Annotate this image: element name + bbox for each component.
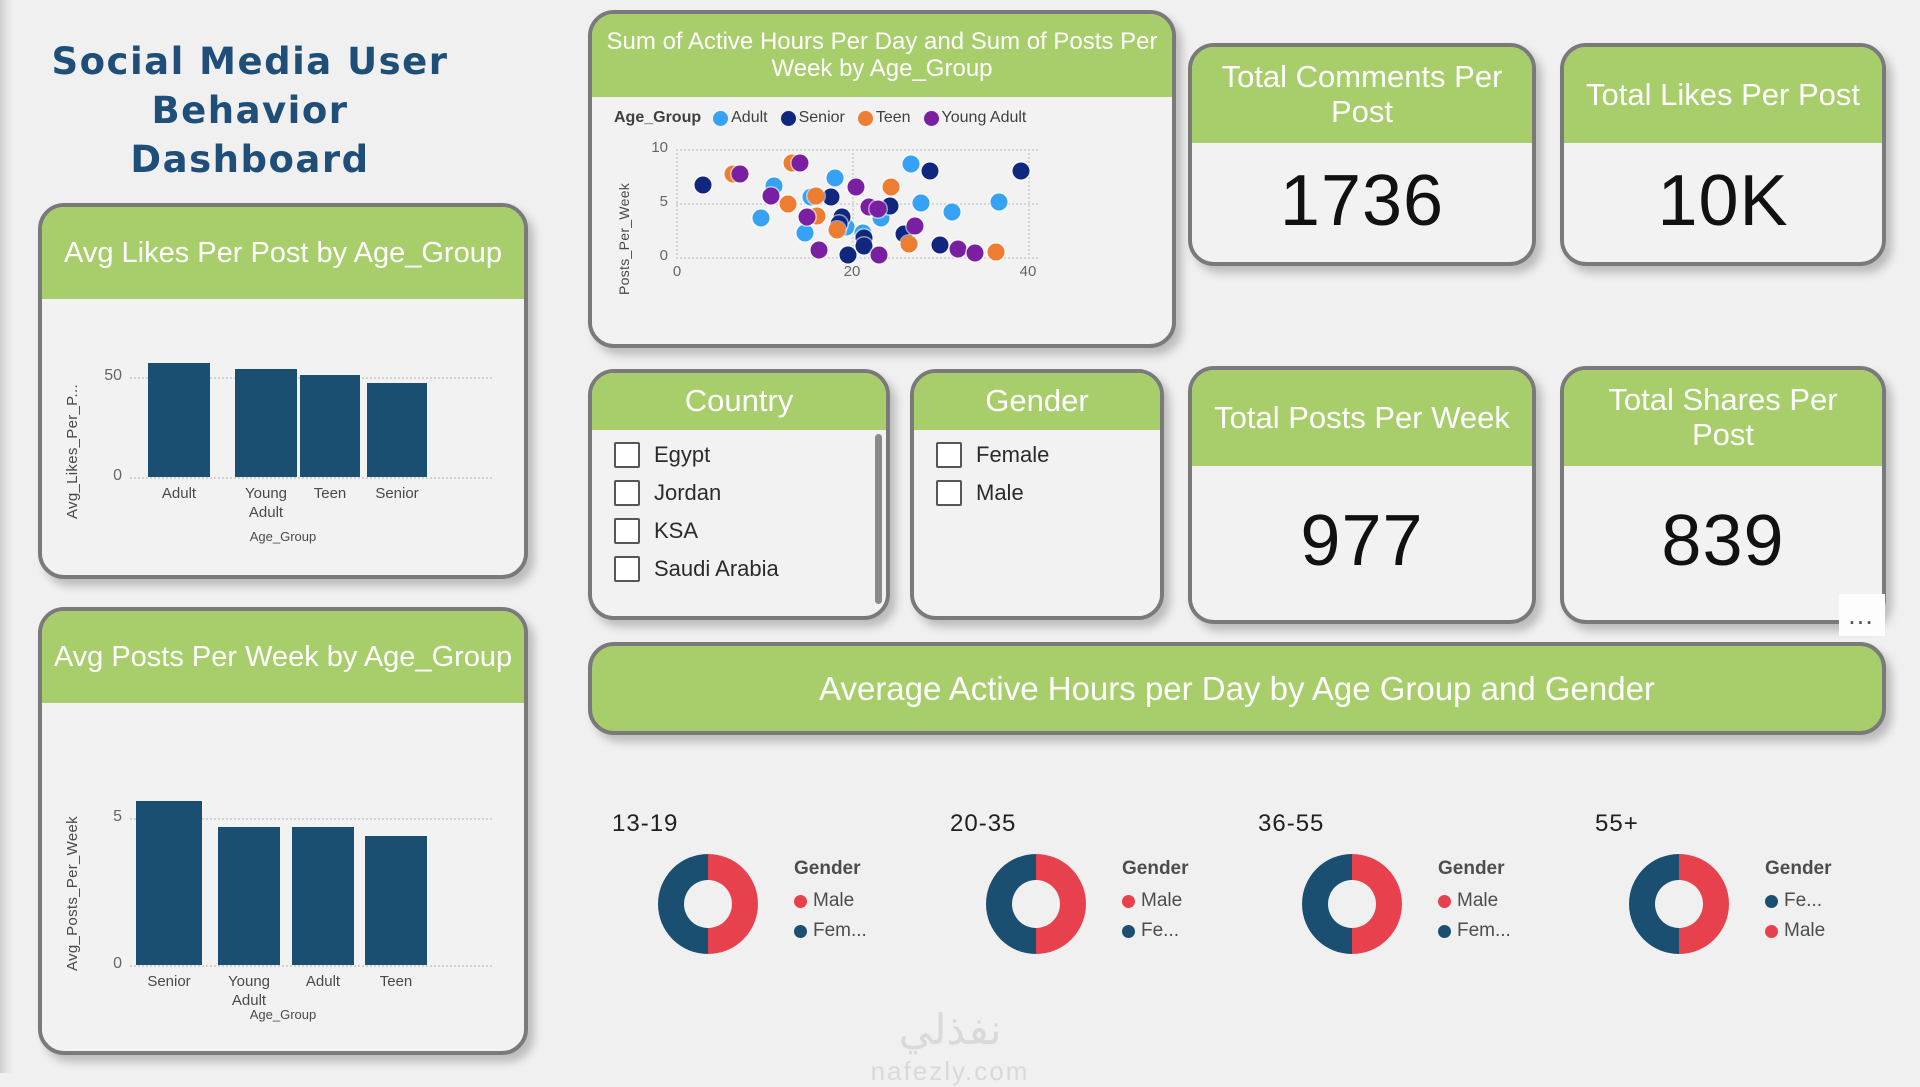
scatter-point-adult[interactable] <box>991 193 1008 210</box>
avg-posts-ytick-5: 5 <box>84 808 122 826</box>
legend-item-senior[interactable]: Senior <box>781 109 845 127</box>
scatter-gridline-5 <box>676 203 1038 205</box>
donut-chart-20-35[interactable] <box>986 854 1086 954</box>
avg-posts-y-axis-title: Avg_Posts_Per_Week <box>64 751 81 971</box>
scatter-point-senior[interactable] <box>695 176 712 193</box>
bar-adult[interactable] <box>148 363 210 477</box>
scatter-point-teen[interactable] <box>807 187 824 204</box>
kpi-total-comments-title: Total Comments Per Post <box>1192 47 1532 143</box>
legend-text-male-13-19: Male <box>813 890 854 912</box>
legend-dot-male-55-plus <box>1765 925 1778 938</box>
donut-legend-item-male-20-35[interactable]: Male <box>1122 890 1189 912</box>
scatter-point-senior[interactable] <box>931 236 948 253</box>
scatter-point-senior[interactable] <box>840 246 857 263</box>
average-active-hours-banner: Average Active Hours per Day by Age Grou… <box>588 642 1886 735</box>
scatter-point-young-adult[interactable] <box>967 244 984 261</box>
slicer-item-jordan[interactable]: Jordan <box>614 480 886 506</box>
kpi-total-shares-title: Total Shares Per Post <box>1564 370 1882 466</box>
scatter-point-young-adult[interactable] <box>848 178 865 195</box>
avg-posts-ytick-0: 0 <box>84 955 122 973</box>
donut-legend-title-36-55: Gender <box>1438 858 1511 880</box>
donut-legend-item-female-20-35[interactable]: Fe... <box>1122 920 1189 942</box>
avg-posts-xlabel-teen: Teen <box>358 973 434 992</box>
kpi-total-posts-value: 977 <box>1192 500 1532 582</box>
scatter-gridline-x0 <box>676 149 678 259</box>
scatter-ytick-0: 0 <box>632 247 668 264</box>
scatter-legend[interactable]: Age_Group Adult Senior Teen Young Adult <box>614 109 1035 127</box>
checkbox-icon-jordan[interactable] <box>614 480 640 506</box>
legend-label-teen: Teen <box>876 109 911 127</box>
donut-chart-13-19[interactable] <box>658 854 758 954</box>
avg-posts-xlabel-senior: Senior <box>131 973 207 992</box>
legend-label-adult: Adult <box>731 109 767 127</box>
legend-dot-male-36-55 <box>1438 895 1451 908</box>
kpi-total-shares-value: 839 <box>1564 500 1882 582</box>
scatter-point-adult[interactable] <box>902 156 919 173</box>
donut-legend-title-55-plus: Gender <box>1765 858 1832 880</box>
scatter-card-title: Sum of Active Hours Per Day and Sum of P… <box>592 14 1172 97</box>
legend-dot-male-13-19 <box>794 895 807 908</box>
donut-wrap-20-35: Gender Male Fe... <box>986 854 1189 954</box>
avg-likes-x-axis-title: Age_Group <box>42 529 524 544</box>
slicer-item-saudi-arabia[interactable]: Saudi Arabia <box>614 556 886 582</box>
avg-posts-x-axis-title: Age_Group <box>42 1007 524 1022</box>
country-slicer-body[interactable]: Egypt Jordan KSA Saudi Arabia <box>592 430 886 616</box>
bar-teen-posts[interactable] <box>365 836 427 965</box>
scatter-point-young-adult[interactable] <box>763 187 780 204</box>
scatter-point-senior[interactable] <box>922 163 939 180</box>
scatter-point-teen[interactable] <box>883 178 900 195</box>
donut-chart-36-55[interactable] <box>1302 854 1402 954</box>
donut-legend-title-13-19: Gender <box>794 858 867 880</box>
donut-chart-55-plus[interactable] <box>1629 854 1729 954</box>
avg-likes-y-axis-title: Avg_Likes_Per_P... <box>64 329 81 519</box>
avg-likes-xlabel-senior: Senior <box>359 485 435 504</box>
xlabel-adult2: Adult <box>228 504 304 523</box>
scatter-point-teen[interactable] <box>780 196 797 213</box>
banner-text: Average Active Hours per Day by Age Grou… <box>819 670 1655 708</box>
donut-label-55-plus: 55+ <box>1595 810 1639 838</box>
slicer-label-male: Male <box>976 480 1024 506</box>
slicer-label-jordan: Jordan <box>654 480 721 506</box>
scatter-gridline-10 <box>676 149 1038 151</box>
legend-dot-female-36-55 <box>1438 925 1451 938</box>
legend-text-male-20-35: Male <box>1141 890 1182 912</box>
avg-posts-xlabel-adult: Adult <box>285 973 361 992</box>
checkbox-icon-female[interactable] <box>936 442 962 468</box>
scatter-gridline-x20 <box>852 149 854 259</box>
donut-label-13-19: 13-19 <box>612 810 678 838</box>
page-title-line-1: Social Media User <box>40 38 460 87</box>
slicer-item-female[interactable]: Female <box>936 442 1160 468</box>
bar-adult-posts[interactable] <box>292 827 354 965</box>
avg-likes-card-title: Avg Likes Per Post by Age_Group <box>42 207 524 299</box>
legend-label-young-adult: Young Adult <box>942 109 1027 127</box>
scatter-point-adult[interactable] <box>913 194 930 211</box>
scatter-point-young-adult[interactable] <box>792 155 809 172</box>
donut-legend-13-19: Gender Male Fem... <box>794 858 867 950</box>
country-slicer-list[interactable]: Egypt Jordan KSA Saudi Arabia <box>592 430 886 582</box>
kpi-total-posts-title: Total Posts Per Week <box>1192 370 1532 466</box>
checkbox-icon-egypt[interactable] <box>614 442 640 468</box>
donut-label-36-55: 36-55 <box>1258 810 1324 838</box>
scatter-card[interactable]: Sum of Active Hours Per Day and Sum of P… <box>588 10 1176 348</box>
avg-posts-card-title: Avg Posts Per Week by Age_Group <box>42 611 524 703</box>
scatter-gridline-0 <box>676 257 1038 259</box>
legend-item-young-adult[interactable]: Young Adult <box>924 109 1027 127</box>
bar-young-adult-posts[interactable] <box>218 827 280 965</box>
slicer-item-male[interactable]: Male <box>936 480 1160 506</box>
xlabel-young-2: Young <box>211 973 287 992</box>
legend-dot-female-13-19 <box>794 925 807 938</box>
scatter-xtick-20: 20 <box>837 263 867 280</box>
donut-group-36-55: 36-55 Gender Male Fem... <box>1258 810 1324 838</box>
scatter-point-adult[interactable] <box>826 169 843 186</box>
avg-likes-chart[interactable]: Avg_Likes_Per_P... 50 0 Adult Young Adul… <box>42 299 524 567</box>
kpi-total-posts-per-week[interactable]: Total Posts Per Week 977 <box>1188 366 1536 624</box>
scatter-point-young-adult[interactable] <box>870 201 887 218</box>
scatter-gridline-x40 <box>1028 149 1030 259</box>
scatter-point-young-adult[interactable] <box>907 218 924 235</box>
checkbox-icon-saudi-arabia[interactable] <box>614 556 640 582</box>
country-slicer[interactable]: Country Egypt Jordan KSA Saudi Arabia <box>588 369 890 620</box>
kpi-total-likes-title: Total Likes Per Post <box>1564 47 1882 143</box>
scatter-legend-title: Age_Group <box>614 109 701 127</box>
slicer-item-egypt[interactable]: Egypt <box>614 442 886 468</box>
kpi-total-shares-per-post[interactable]: Total Shares Per Post 839 <box>1560 366 1886 624</box>
legend-text-female-20-35: Fe... <box>1141 920 1179 942</box>
gender-slicer[interactable]: Gender Female Male <box>910 369 1164 620</box>
kpi-total-comments-body: 1736 <box>1192 143 1532 258</box>
avg-posts-chart[interactable]: Avg_Posts_Per_Week 5 0 Senior Young Adul… <box>42 703 524 1043</box>
scatter-point-senior[interactable] <box>823 188 840 205</box>
legend-dot-senior <box>781 111 796 126</box>
scatter-xtick-40: 40 <box>1013 263 1043 280</box>
avg-likes-ytick-0: 0 <box>84 467 122 485</box>
legend-text-male-36-55: Male <box>1457 890 1498 912</box>
page-title: Social Media User Behavior Dashboard <box>40 38 460 184</box>
donut-legend-20-35: Gender Male Fe... <box>1122 858 1189 950</box>
scatter-point-teen[interactable] <box>987 243 1004 260</box>
donut-group-55-plus: 55+ Gender Fe... Male <box>1595 810 1639 838</box>
donut-group-13-19: 13-19 Gender Male Fem... <box>612 810 678 838</box>
scatter-point-young-adult[interactable] <box>949 240 966 257</box>
donut-legend-55-plus: Gender Fe... Male <box>1765 858 1832 950</box>
gender-slicer-list[interactable]: Female Male <box>914 430 1160 506</box>
bar-senior[interactable] <box>367 383 427 477</box>
legend-dot-adult <box>713 111 728 126</box>
checkbox-icon-ksa[interactable] <box>614 518 640 544</box>
kpi-total-likes-value: 10K <box>1564 160 1882 242</box>
legend-item-teen[interactable]: Teen <box>858 109 911 127</box>
legend-text-female-36-55: Fem... <box>1457 920 1511 942</box>
legend-text-female-55-plus: Fe... <box>1784 890 1822 912</box>
scatter-plot-area[interactable] <box>676 149 1038 259</box>
legend-dot-female-55-plus <box>1765 895 1778 908</box>
kpi-total-shares-body: 839 <box>1564 466 1882 616</box>
scatter-point-adult[interactable] <box>796 224 813 241</box>
avg-posts-xlabel-young-adult: Young Adult <box>211 973 287 1011</box>
avg-likes-xlabel-teen: Teen <box>292 485 368 504</box>
donut-wrap-55-plus: Gender Fe... Male <box>1629 854 1832 954</box>
kpi-total-likes-body: 10K <box>1564 143 1882 258</box>
kpi-total-comments-value: 1736 <box>1192 160 1532 242</box>
slicer-label-saudi-arabia: Saudi Arabia <box>654 556 779 582</box>
avg-posts-gridline-0 <box>130 965 492 967</box>
dashboard-canvas: Social Media User Behavior Dashboard Avg… <box>0 0 1920 1073</box>
avg-posts-card[interactable]: Avg Posts Per Week by Age_Group Avg_Post… <box>38 607 528 1055</box>
slicer-label-female: Female <box>976 442 1049 468</box>
avg-likes-card[interactable]: Avg Likes Per Post by Age_Group Avg_Like… <box>38 203 528 579</box>
donut-legend-item-female-55-plus[interactable]: Fe... <box>1765 890 1832 912</box>
checkbox-icon-male[interactable] <box>936 480 962 506</box>
scatter-point-senior[interactable] <box>1013 163 1030 180</box>
avg-likes-gridline-0 <box>130 477 492 479</box>
scatter-y-axis-title: Posts_Per_Week <box>616 145 632 295</box>
slicer-label-ksa: KSA <box>654 518 698 544</box>
legend-dot-teen <box>858 111 873 126</box>
donut-legend-item-female-36-55[interactable]: Fem... <box>1438 920 1511 942</box>
legend-label-senior: Senior <box>799 109 845 127</box>
gender-slicer-title: Gender <box>914 373 1160 430</box>
country-slicer-title: Country <box>592 373 886 430</box>
legend-dot-male-20-35 <box>1122 895 1135 908</box>
country-slicer-scrollbar[interactable] <box>875 434 882 604</box>
scatter-point-young-adult[interactable] <box>798 209 815 226</box>
legend-item-adult[interactable]: Adult <box>713 109 767 127</box>
donut-wrap-36-55: Gender Male Fem... <box>1302 854 1511 954</box>
bar-senior-posts[interactable] <box>136 801 202 965</box>
legend-dot-young-adult <box>924 111 939 126</box>
scatter-point-young-adult[interactable] <box>871 246 888 263</box>
page-left-edge <box>0 0 14 1073</box>
legend-text-female-13-19: Fem... <box>813 920 867 942</box>
donut-legend-item-male-36-55[interactable]: Male <box>1438 890 1511 912</box>
donut-legend-title-20-35: Gender <box>1122 858 1189 880</box>
scatter-point-teen[interactable] <box>901 235 918 252</box>
legend-dot-female-20-35 <box>1122 925 1135 938</box>
kpi-total-comments-per-post[interactable]: Total Comments Per Post 1736 <box>1188 43 1536 266</box>
scatter-point-young-adult[interactable] <box>811 241 828 258</box>
slicer-label-egypt: Egypt <box>654 442 710 468</box>
watermark: نفذلي nafezly.com <box>810 1005 1090 1087</box>
watermark-arabic: نفذلي <box>810 1005 1090 1054</box>
scatter-point-young-adult[interactable] <box>732 166 749 183</box>
kpi-total-posts-body: 977 <box>1192 466 1532 616</box>
scatter-point-adult[interactable] <box>944 204 961 221</box>
kpi-total-likes-per-post[interactable]: Total Likes Per Post 10K <box>1560 43 1886 266</box>
donut-legend-36-55: Gender Male Fem... <box>1438 858 1511 950</box>
avg-likes-xlabel-adult: Adult <box>141 485 217 504</box>
donut-wrap-13-19: Gender Male Fem... <box>658 854 867 954</box>
scatter-point-teen[interactable] <box>828 222 845 239</box>
donut-legend-item-male-13-19[interactable]: Male <box>794 890 867 912</box>
scatter-ytick-10: 10 <box>632 139 668 156</box>
donut-legend-item-male-55-plus[interactable]: Male <box>1765 920 1832 942</box>
page-title-line-2: Behavior Dashboard <box>40 87 460 185</box>
gender-slicer-body[interactable]: Female Male <box>914 430 1160 616</box>
more-options-button[interactable]: … <box>1839 594 1885 636</box>
scatter-point-adult[interactable] <box>752 210 769 227</box>
scatter-chart[interactable]: Age_Group Adult Senior Teen Young Adult <box>592 97 1172 336</box>
bar-teen[interactable] <box>300 375 360 477</box>
avg-likes-ytick-50: 50 <box>84 367 122 385</box>
bar-young-adult[interactable] <box>235 369 297 477</box>
scatter-xtick-0: 0 <box>662 263 692 280</box>
donut-group-20-35: 20-35 Gender Male Fe... <box>950 810 1016 838</box>
legend-text-male-55-plus: Male <box>1784 920 1825 942</box>
donut-legend-item-female-13-19[interactable]: Fem... <box>794 920 867 942</box>
watermark-latin: nafezly.com <box>810 1056 1090 1087</box>
scatter-ytick-5: 5 <box>632 193 668 210</box>
slicer-item-ksa[interactable]: KSA <box>614 518 886 544</box>
donut-label-20-35: 20-35 <box>950 810 1016 838</box>
